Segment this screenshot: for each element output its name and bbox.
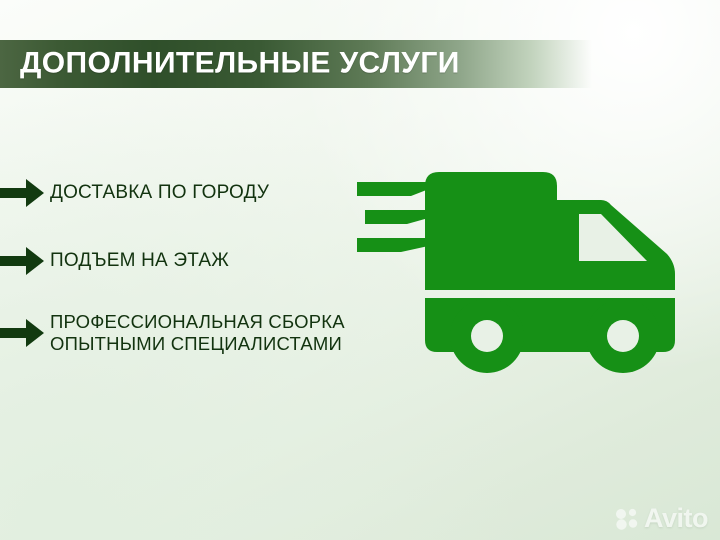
arrow-right-icon [0, 179, 44, 207]
list-item-label: ПОДЪЕМ НА ЭТАЖ [50, 250, 229, 272]
truck-wheel-rear-hub [471, 320, 503, 352]
list-item: ПРОФЕССИОНАЛЬНАЯ СБОРКА ОПЫТНЫМИ СПЕЦИАЛ… [0, 311, 345, 355]
truck-wheel-front-hub [607, 320, 639, 352]
list-item-label: ДОСТАВКА ПО ГОРОДУ [50, 182, 269, 204]
page-title: ДОПОЛНИТЕЛЬНЫЕ УСЛУГИ [20, 46, 460, 80]
poster-canvas: ДОПОЛНИТЕЛЬНЫЕ УСЛУГИ ДОСТАВКА ПО ГОРОДУ… [0, 0, 720, 540]
delivery-truck-icon [355, 158, 715, 373]
list-item: ДОСТАВКА ПО ГОРОДУ [0, 179, 269, 207]
watermark-label: Avito [644, 505, 708, 532]
arrow-right-icon [0, 247, 44, 275]
avito-logo-icon [615, 508, 639, 530]
arrow-right-icon [0, 319, 44, 347]
header-banner: ДОПОЛНИТЕЛЬНЫЕ УСЛУГИ [0, 40, 592, 88]
list-item: ПОДЪЕМ НА ЭТАЖ [0, 247, 229, 275]
truck-cargo-box [425, 172, 557, 290]
list-item-label: ПРОФЕССИОНАЛЬНАЯ СБОРКА ОПЫТНЫМИ СПЕЦИАЛ… [50, 311, 345, 355]
watermark: Avito [615, 505, 708, 532]
